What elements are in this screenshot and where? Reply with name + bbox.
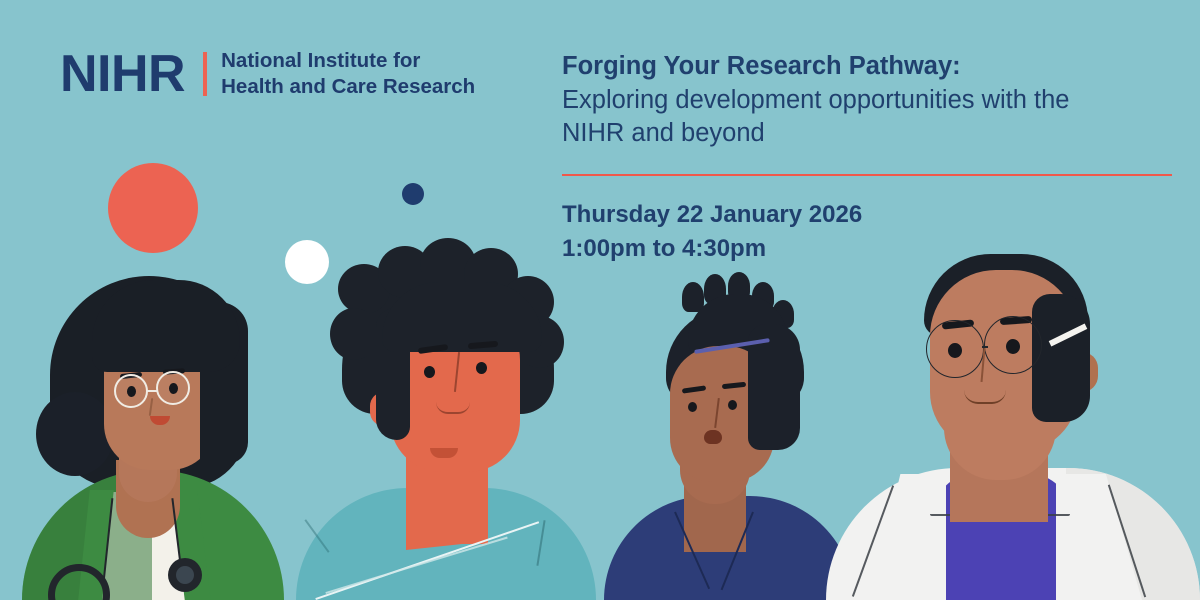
eye-right [476, 362, 487, 374]
hair-front [92, 280, 240, 372]
logo-name-line-2: Health and Care Research [221, 74, 475, 100]
event-title-line-1: Forging Your Research Pathway: [562, 50, 1172, 84]
coral-circle-decoration [108, 163, 198, 253]
event-banner: NIHR National Institute for Health and C… [0, 0, 1200, 600]
eye-left [688, 402, 697, 412]
hair-side [1032, 294, 1090, 422]
hair-front [382, 282, 542, 352]
eye-right [728, 400, 737, 410]
navy-circle-decoration [402, 183, 424, 205]
coral-divider [562, 174, 1172, 176]
hair-bun [36, 392, 114, 476]
eye-left [127, 386, 136, 397]
stethoscope-diaphragm [176, 566, 194, 584]
logo-full-name: National Institute for Health and Care R… [221, 48, 475, 100]
eye-left [424, 366, 435, 378]
logo-name-line-1: National Institute for [221, 48, 475, 74]
hair-curl [330, 308, 378, 360]
logo-divider-rule [203, 52, 207, 96]
illustration-figure-clinician-with-stethoscope [0, 270, 300, 600]
event-title-line-2: Exploring development opportunities with… [562, 84, 1172, 118]
event-date: Thursday 22 January 2026 [562, 198, 1172, 232]
eye-left [948, 343, 962, 358]
illustration-figure-clinician-lab-coat [826, 240, 1200, 600]
eye-right [169, 383, 178, 394]
illustration-figure-clinician-curly-hair [290, 260, 610, 600]
nihr-wordmark: NIHR [60, 48, 185, 100]
eye-right [1006, 339, 1020, 354]
mouth [704, 430, 722, 444]
event-title-line-3: NIHR and beyond [562, 117, 1172, 151]
nihr-logo: NIHR National Institute for Health and C… [60, 48, 475, 100]
event-text-block: Forging Your Research Pathway: Exploring… [562, 50, 1172, 266]
glasses-bridge [147, 390, 158, 392]
